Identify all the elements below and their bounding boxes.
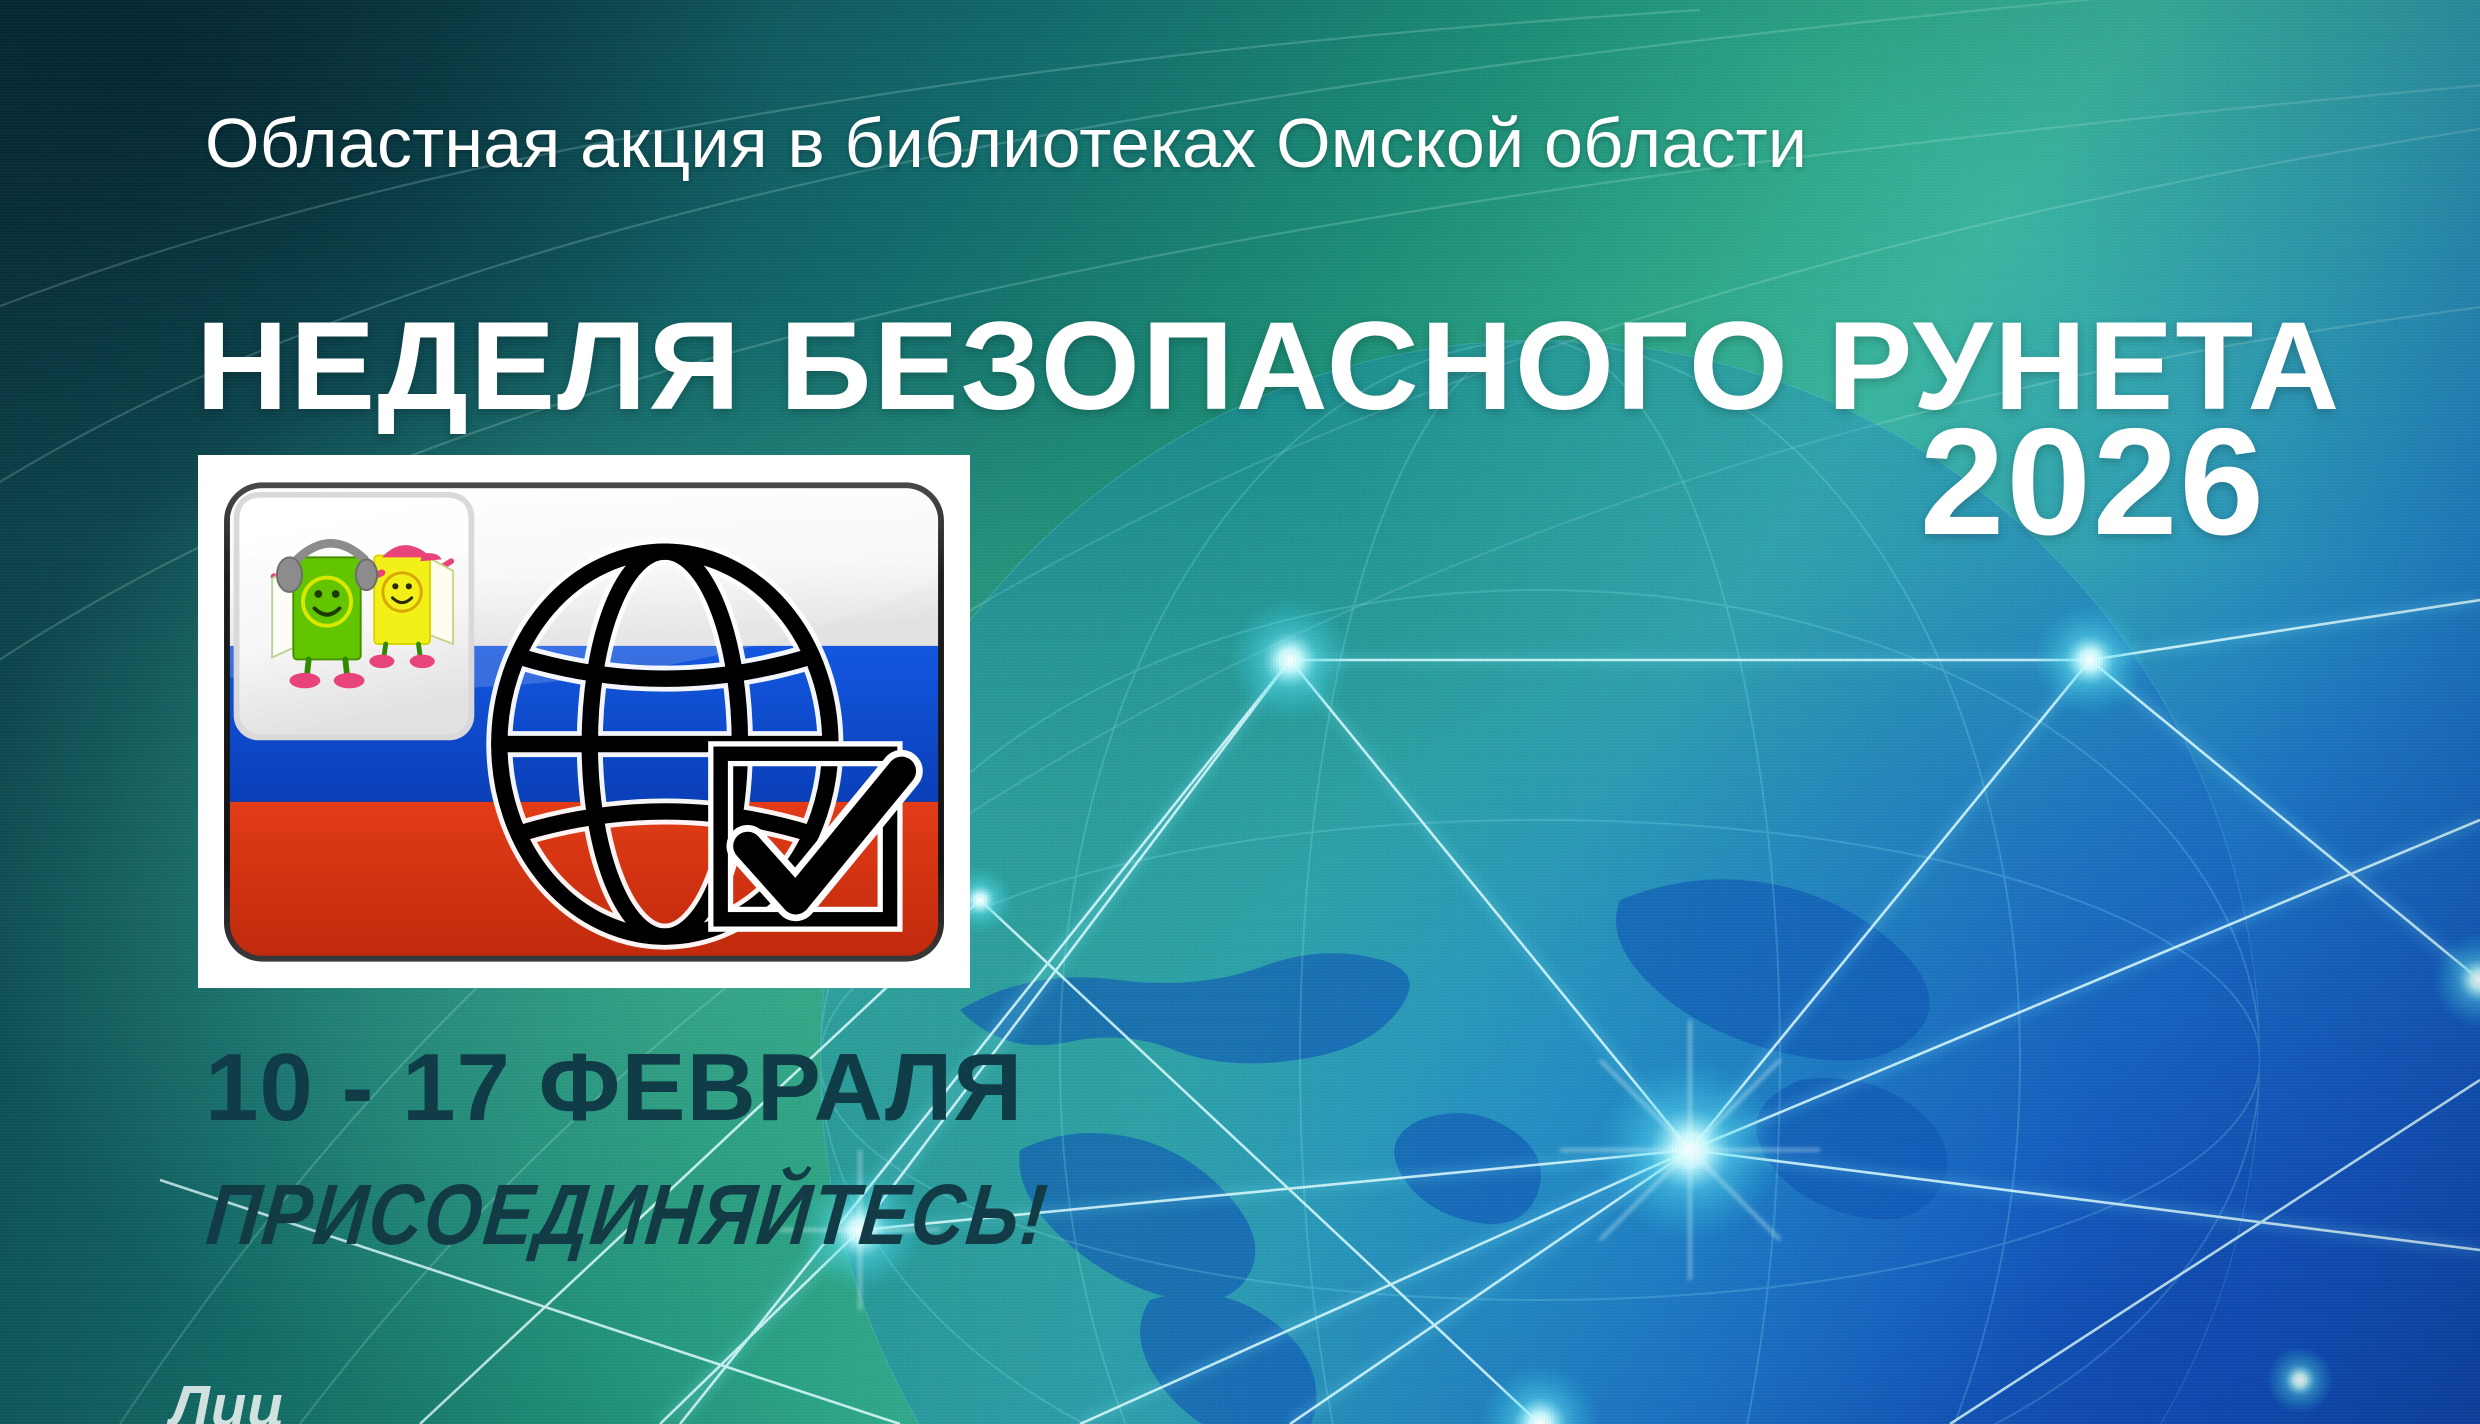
poster-dates: 10 - 17 ФЕВРАЛЯ	[205, 1040, 1023, 1136]
poster-content: Областная акция в библиотеках Омской обл…	[0, 0, 2480, 1424]
poster-subtitle: Областная акция в библиотеках Омской обл…	[205, 108, 1807, 178]
poster-root: Областная акция в библиотеках Омской обл…	[0, 0, 2480, 1424]
poster-watermark: Лиц	[170, 1373, 286, 1424]
poster-call-to-action: ПРИСОЕДИНЯЙТЕСЬ!	[203, 1172, 1053, 1258]
logo-artwork	[208, 465, 960, 978]
small-key-book-mascots	[234, 492, 475, 740]
poster-year: 2026	[1920, 410, 2266, 554]
safe-runet-logo	[198, 455, 970, 988]
